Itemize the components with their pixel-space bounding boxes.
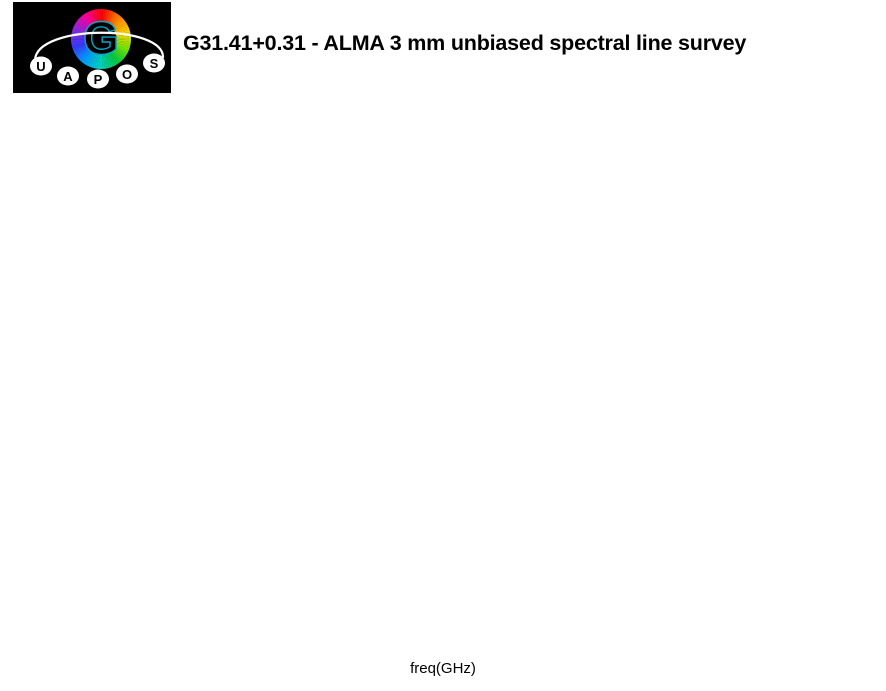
logo-graphic: G UAPOS <box>13 2 171 93</box>
logo-letter-s: S <box>150 56 159 71</box>
logo-letter-g: G <box>83 12 119 64</box>
header-banner: G UAPOS G31.41+0.31 - ALMA 3 mm unbiased… <box>0 0 886 96</box>
logo-letter-a: A <box>63 69 73 84</box>
logo-letter-o: O <box>122 67 132 82</box>
spectrum-panel-stack <box>0 96 886 691</box>
page-title: G31.41+0.31 - ALMA 3 mm unbiased spectra… <box>183 31 746 56</box>
x-axis-label: freq(GHz) <box>0 660 886 677</box>
logo-letter-u: U <box>36 59 45 74</box>
logo-letter-p: P <box>94 72 103 87</box>
uapos-logo: G UAPOS <box>13 2 171 93</box>
